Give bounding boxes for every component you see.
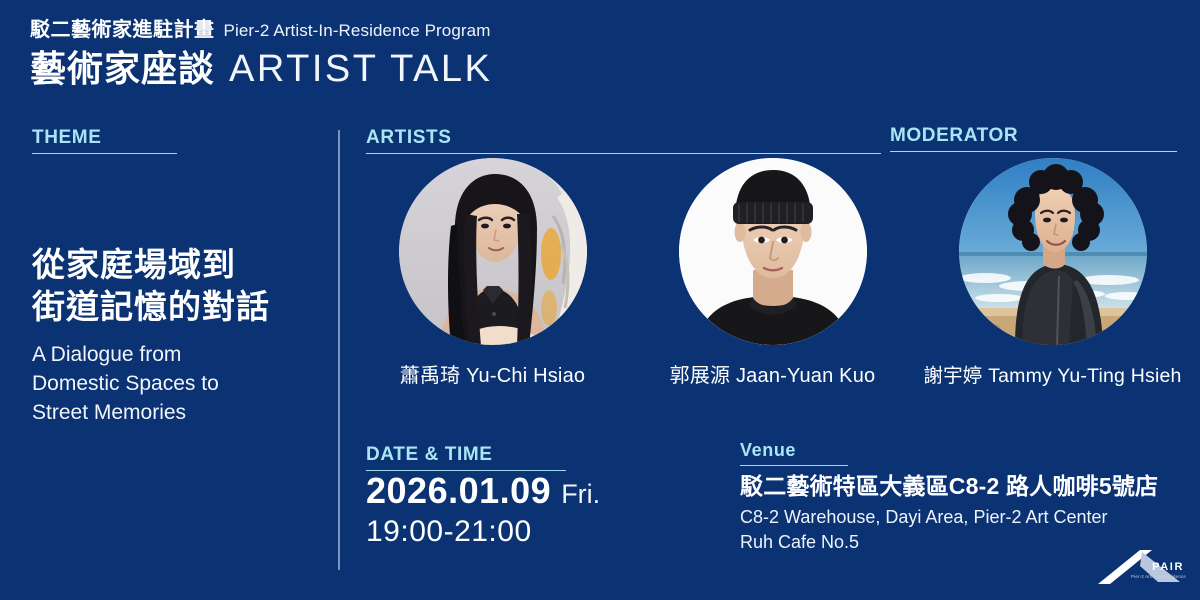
person-name-artist-1: 蕭禹琦 Yu-Chi Hsiao [400, 359, 585, 388]
poster-header: 駁二藝術家進駐計畫 Pier-2 Artist-In-Residence Pro… [30, 18, 730, 93]
venue-address-en-line1: C8-2 Warehouse, Dayi Area, Pier-2 Art Ce… [740, 505, 1190, 531]
avatar-moderator [959, 158, 1147, 345]
section-label-artists: ARTISTS [366, 128, 451, 147]
vertical-divider [338, 130, 340, 570]
venue-address-zh: 駁二藝術特區大義區C8-2 路人咖啡5號店 [740, 472, 1190, 502]
event-date: 2026.01.09 [366, 470, 551, 512]
theme-subtitle-en-line1: A Dialogue from [32, 341, 322, 370]
avatar-artist-1 [399, 158, 587, 345]
logo-wordmark: PAIR [1152, 562, 1184, 573]
theme-title-zh-line2: 街道記憶的對話 [32, 286, 322, 328]
venue-block: 駁二藝術特區大義區C8-2 路人咖啡5號店 C8-2 Warehouse, Da… [740, 472, 1190, 556]
program-name-en: Pier-2 Artist-In-Residence Program [224, 20, 491, 41]
section-label-venue: Venue [740, 441, 796, 459]
section-label-theme: THEME [32, 128, 102, 147]
pair-logo: PAIR Pier-2 Artist In Residence [1096, 546, 1188, 592]
person-name-artist-2: 郭展源 Jaan-Yuan Kuo [670, 359, 876, 388]
theme-subtitle-en-line3: Street Memories [32, 399, 322, 428]
program-kicker: 駁二藝術家進駐計畫 Pier-2 Artist-In-Residence Pro… [30, 18, 730, 43]
poster-title: 藝術家座談 ARTIST TALK [30, 47, 730, 93]
theme-block: 從家庭場域到 街道記憶的對話 A Dialogue from Domestic … [32, 244, 322, 428]
program-name-zh: 駁二藝術家進駐計畫 [30, 18, 215, 43]
section-label-moderator: MODERATOR [890, 126, 1018, 145]
theme-subtitle-en-line2: Domestic Spaces to [32, 370, 322, 399]
section-label-datetime: DATE & TIME [366, 445, 493, 464]
people-row: 蕭禹琦 Yu-Chi Hsiao [360, 158, 1185, 388]
person-card-artist-2: 郭展源 Jaan-Yuan Kuo [640, 158, 905, 388]
avatar-artist-2 [679, 158, 867, 345]
logo-subtitle: Pier-2 Artist In Residence [1131, 575, 1186, 579]
theme-title-zh-line1: 從家庭場域到 [32, 244, 322, 286]
event-weekday: Fri. [561, 479, 600, 511]
person-card-moderator: 謝宇婷 Tammy Yu-Ting Hsieh [920, 158, 1185, 388]
poster-canvas: 駁二藝術家進駐計畫 Pier-2 Artist-In-Residence Pro… [0, 0, 1200, 600]
page-title-en: ARTIST TALK [229, 47, 492, 93]
event-time: 19:00-21:00 [366, 512, 600, 551]
event-date-line: 2026.01.09 Fri. [366, 470, 600, 512]
datetime-block: 2026.01.09 Fri. 19:00-21:00 [366, 470, 600, 551]
theme-subtitle-en: A Dialogue from Domestic Spaces to Stree… [32, 341, 322, 428]
person-name-moderator: 謝宇婷 Tammy Yu-Ting Hsieh [923, 359, 1181, 388]
person-card-artist-1: 蕭禹琦 Yu-Chi Hsiao [360, 158, 625, 388]
page-title-zh: 藝術家座談 [30, 47, 215, 90]
